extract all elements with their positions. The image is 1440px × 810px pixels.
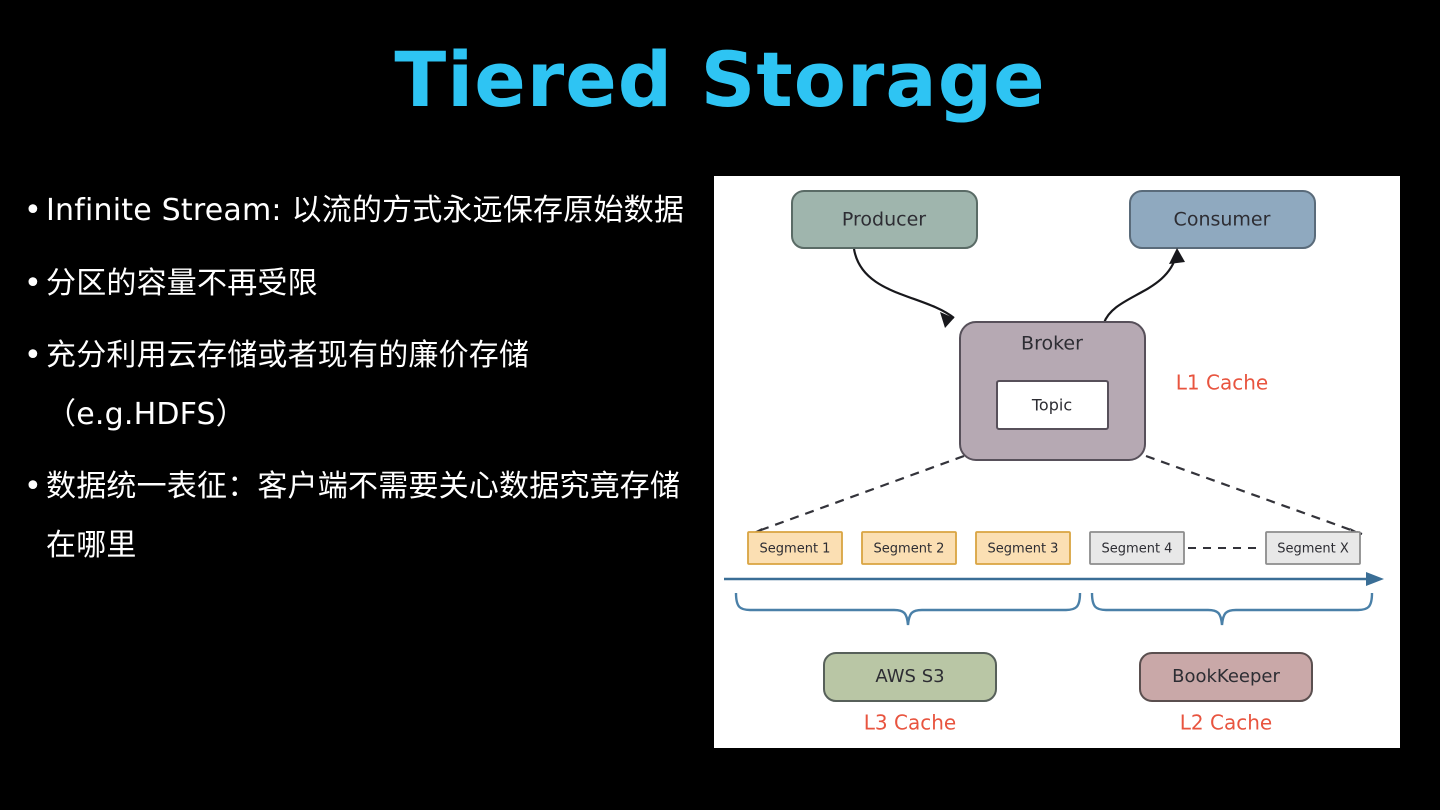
segment-box-2: Segment 2 — [862, 532, 956, 564]
segment-row: Segment 1 Segment 2 Segment 3 Segment 4 — [748, 532, 1360, 564]
segment-2-label: Segment 2 — [874, 542, 945, 557]
topic-label: Topic — [1031, 396, 1072, 415]
page-title: Tiered Storage — [0, 38, 1440, 122]
list-item: • 分区的容量不再受限 — [24, 255, 704, 314]
list-item-label: 数据统一表征：客户端不需要关心数据究竟存储在哪里 — [46, 458, 704, 575]
diagram-node-producer: Producer — [792, 191, 977, 248]
bullet-marker-icon: • — [24, 255, 46, 314]
bullet-marker-icon: • — [24, 182, 46, 241]
segment-3-label: Segment 3 — [988, 542, 1059, 557]
segment-x-label: Segment X — [1277, 542, 1349, 557]
l1-cache-label: L1 Cache — [1176, 371, 1268, 395]
segment-box-1: Segment 1 — [748, 532, 842, 564]
diagram-node-bookkeeper: BookKeeper — [1140, 653, 1312, 701]
broker-to-segments-dashed-lines — [750, 456, 1362, 541]
aws-s3-label: AWS S3 — [875, 666, 944, 687]
producer-label: Producer — [842, 209, 926, 231]
diagram-node-consumer: Consumer — [1130, 191, 1315, 248]
timeline-axis — [724, 572, 1384, 586]
brace-l2-group — [1092, 593, 1372, 625]
segment-1-label: Segment 1 — [760, 542, 831, 557]
slide-canvas: Tiered Storage • Infinite Stream: 以流的方式永… — [0, 0, 1440, 810]
l3-cache-label: L3 Cache — [864, 711, 956, 735]
brace-l3-group — [736, 593, 1080, 625]
segment-box-x: Segment X — [1266, 532, 1360, 564]
bullet-marker-icon: • — [24, 458, 46, 517]
bookkeeper-label: BookKeeper — [1172, 666, 1280, 687]
arrow-producer-to-broker — [854, 249, 954, 328]
consumer-label: Consumer — [1174, 209, 1271, 231]
segment-box-4: Segment 4 — [1090, 532, 1184, 564]
arrow-broker-to-consumer — [1104, 248, 1185, 323]
list-item-label: 充分利用云存储或者现有的廉价存储（e.g.HDFS） — [46, 327, 704, 444]
list-item-label: 分区的容量不再受限 — [46, 255, 704, 314]
list-item: • Infinite Stream: 以流的方式永远保存原始数据 — [24, 182, 704, 241]
architecture-diagram: Producer Consumer — [714, 176, 1400, 748]
diagram-node-aws-s3: AWS S3 — [824, 653, 996, 701]
diagram-node-broker: Broker Topic — [960, 322, 1145, 460]
list-item: • 充分利用云存储或者现有的廉价存储（e.g.HDFS） — [24, 327, 704, 444]
bullet-list: • Infinite Stream: 以流的方式永远保存原始数据 • 分区的容量… — [24, 182, 704, 589]
l2-cache-label: L2 Cache — [1180, 711, 1272, 735]
broker-label: Broker — [1021, 333, 1083, 355]
bullet-marker-icon: • — [24, 327, 46, 386]
list-item: • 数据统一表征：客户端不需要关心数据究竟存储在哪里 — [24, 458, 704, 575]
segment-box-3: Segment 3 — [976, 532, 1070, 564]
segment-4-label: Segment 4 — [1102, 542, 1173, 557]
list-item-label: Infinite Stream: 以流的方式永远保存原始数据 — [46, 182, 704, 241]
